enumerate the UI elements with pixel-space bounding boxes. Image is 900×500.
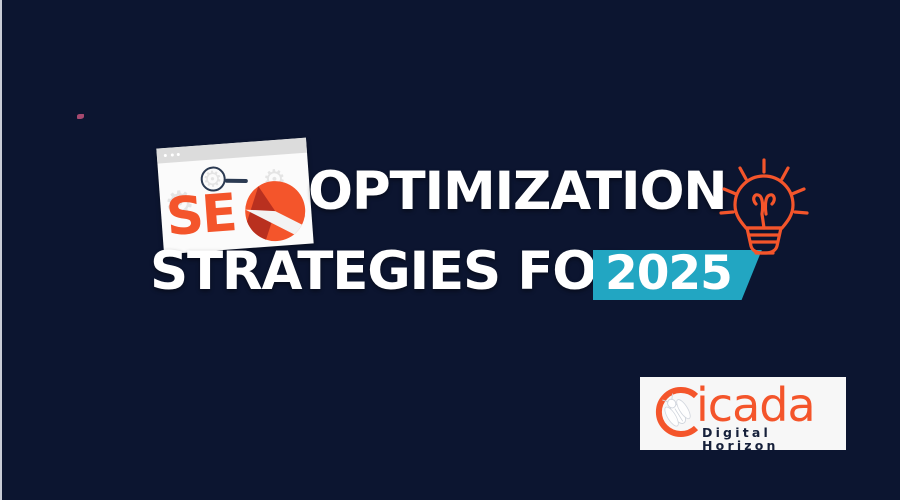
cicada-tagline: Digital Horizon — [702, 427, 846, 452]
browser-window-body: ⚙ ⚙ ⚙ ⚙ SE — [156, 138, 313, 255]
cicada-logo: icada Digital Horizon — [640, 377, 846, 450]
cicada-wordmark: icada — [696, 382, 815, 428]
seo-letters: SE — [165, 187, 238, 244]
window-dot-icon — [177, 153, 181, 157]
window-dot-icon — [170, 153, 174, 157]
pink-speck-artifact — [77, 114, 84, 119]
window-dot-icon — [164, 154, 168, 158]
magnifier-handle — [225, 178, 248, 182]
headline-line-1: OPTIMIZATION — [308, 165, 726, 218]
poster-canvas: ⚙ ⚙ ⚙ ⚙ SE OPTIMIZATION STRATE — [0, 0, 900, 500]
lightbulb-icon — [718, 158, 810, 258]
year-badge-label: 2025 — [605, 250, 732, 297]
headline-line-2: STRATEGIES FOR — [150, 245, 636, 298]
seo-browser-window: ⚙ ⚙ ⚙ ⚙ SE — [156, 138, 313, 255]
